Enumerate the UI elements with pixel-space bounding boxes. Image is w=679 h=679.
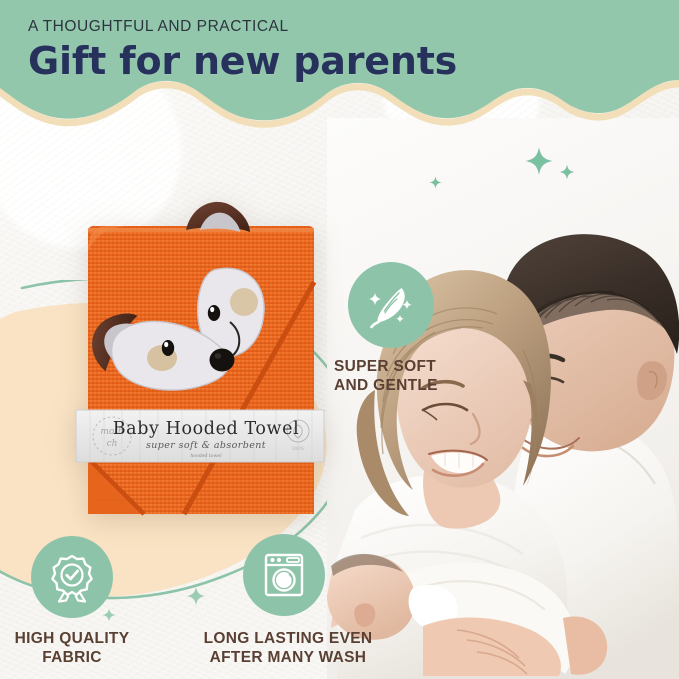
sparkle-icon-bottom-mid <box>186 586 206 606</box>
washing-machine-icon <box>259 550 309 600</box>
header-banner: A THOUGHTFUL AND PRACTICAL Gift for new … <box>0 0 679 132</box>
page-title: Gift for new parents <box>28 42 457 81</box>
sparkle-icon-large <box>524 146 554 176</box>
svg-text:ch: ch <box>107 439 118 449</box>
feature-badge-high-quality <box>31 536 113 618</box>
sparkle-icon-bottom-left <box>102 608 116 622</box>
feature-badge-long-lasting <box>243 534 325 616</box>
feature-caption-line-1: HIGH QUALITY <box>15 630 130 647</box>
feature-caption-high-quality: HIGH QUALITY FABRIC <box>6 630 138 668</box>
product-marketing-image: moth ch 100% Baby Hooded Towel super sof… <box>0 0 679 679</box>
feature-caption-line-1: SUPER SOFT <box>334 358 436 375</box>
feature-caption-line-2: AFTER MANY WASH <box>210 649 367 666</box>
feature-caption-line-2: AND GENTLE <box>334 377 438 394</box>
svg-text:100%: 100% <box>292 446 306 452</box>
svg-text:hooded towel: hooded towel <box>190 453 222 459</box>
lifestyle-photo-couple-with-baby <box>327 118 679 679</box>
product-label-band: moth ch 100% Baby Hooded Towel super sof… <box>76 410 324 462</box>
feather-icon <box>365 279 417 331</box>
feature-caption-line-2: FABRIC <box>42 649 102 666</box>
svg-text:Baby Hooded Towel: Baby Hooded Towel <box>113 419 300 439</box>
sparkle-icon-tiny <box>429 176 442 189</box>
quality-badge-icon <box>46 551 98 603</box>
feature-badge-super-soft <box>348 262 434 348</box>
product-image-hooded-towel: moth ch 100% Baby Hooded Towel super sof… <box>66 196 334 530</box>
feature-caption-super-soft: SUPER SOFT AND GENTLE <box>334 358 484 396</box>
feature-caption-long-lasting: LONG LASTING EVEN AFTER MANY WASH <box>198 630 378 668</box>
feature-caption-line-1: LONG LASTING EVEN <box>204 630 373 647</box>
sparkle-icon-small <box>559 164 575 180</box>
header-kicker: A THOUGHTFUL AND PRACTICAL <box>28 18 457 36</box>
svg-text:super soft & absorbent: super soft & absorbent <box>146 440 266 451</box>
